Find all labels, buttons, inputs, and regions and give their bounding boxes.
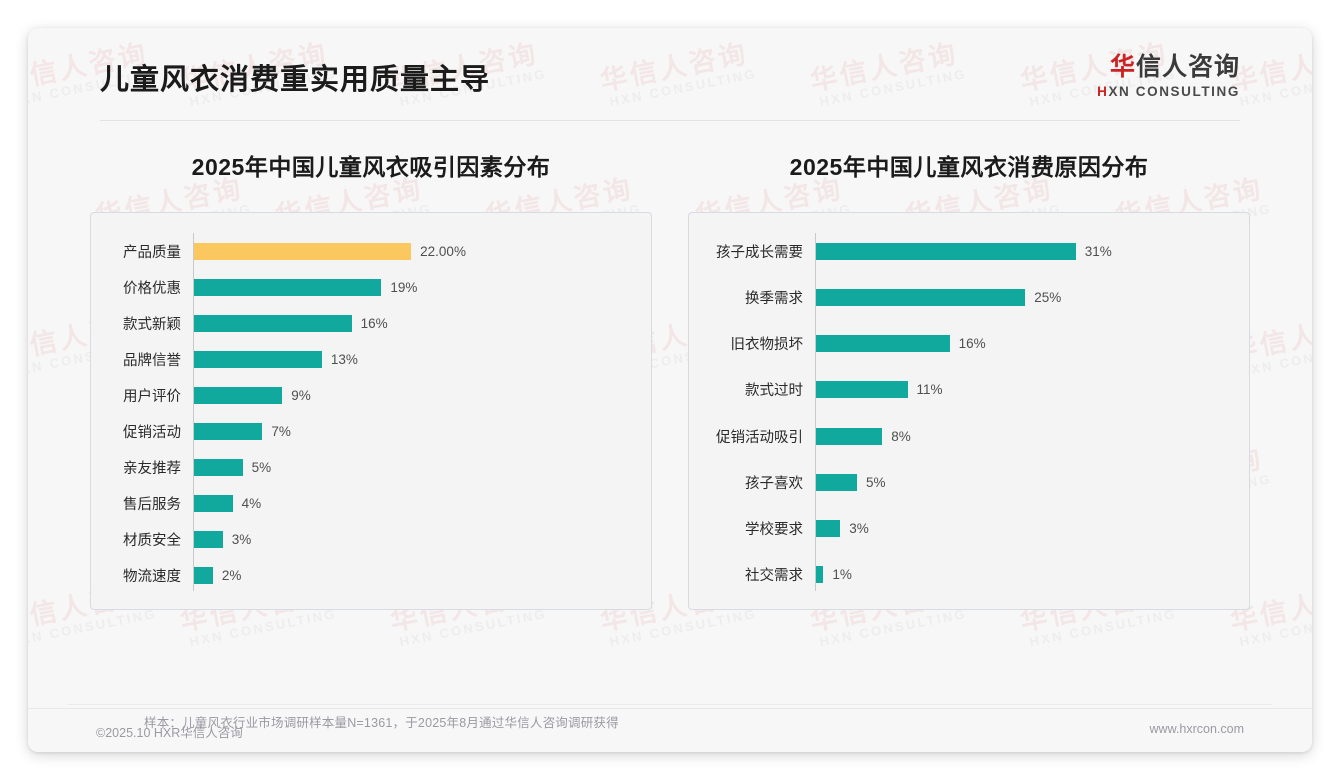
bar-row[interactable]: 品牌信誉13% — [107, 347, 635, 371]
bar[interactable] — [815, 335, 950, 352]
bar-row[interactable]: 孩子喜欢5% — [705, 470, 1233, 494]
bar-track: 13% — [193, 351, 635, 368]
bar-value-label: 19% — [381, 280, 417, 295]
bar-track: 22.00% — [193, 243, 635, 260]
watermark-english: HXN CONSULTING — [1233, 606, 1312, 650]
bar-category-label: 换季需求 — [705, 287, 815, 308]
bar-category-label: 孩子成长需要 — [705, 241, 815, 262]
bar-value-label: 8% — [882, 429, 911, 444]
bar-track: 31% — [815, 243, 1233, 260]
logo-chinese-rest: 信人咨询 — [1136, 53, 1240, 81]
bar-chart-right: 孩子成长需要31%换季需求25%旧衣物损坏16%款式过时11%促销活动吸引8%孩… — [705, 239, 1233, 587]
bar-category-label: 物流速度 — [107, 565, 193, 586]
bar-value-label: 3% — [223, 532, 252, 547]
bar-category-label: 学校要求 — [705, 518, 815, 539]
slide-header: 儿童风衣消费重实用质量主导 华信人咨询 HXN CONSULTING — [28, 28, 1312, 120]
bar[interactable] — [193, 351, 322, 368]
bar-category-label: 孩子喜欢 — [705, 472, 815, 493]
bar[interactable] — [815, 474, 857, 491]
bar[interactable] — [193, 495, 233, 512]
website-url[interactable]: www.hxrcon.com — [1150, 722, 1244, 736]
bar-row[interactable]: 用户评价9% — [107, 383, 635, 407]
bar-track: 5% — [815, 474, 1233, 491]
watermark-english: HXN CONSULTING — [28, 606, 158, 650]
bar-category-label: 款式新颖 — [107, 313, 193, 334]
bar-category-label: 促销活动 — [107, 421, 193, 442]
bar-track: 11% — [815, 381, 1233, 398]
bar-row[interactable]: 学校要求3% — [705, 517, 1233, 541]
bar-row[interactable]: 社交需求1% — [705, 563, 1233, 587]
bar-track: 7% — [193, 423, 635, 440]
bar[interactable] — [193, 459, 243, 476]
bar-value-label: 11% — [908, 382, 943, 397]
bar[interactable] — [193, 315, 352, 332]
bar-value-label: 5% — [243, 460, 272, 475]
bar[interactable] — [815, 381, 908, 398]
watermark-english: HXN CONSULTING — [393, 606, 548, 650]
bar-category-label: 售后服务 — [107, 493, 193, 514]
bar-row[interactable]: 促销活动吸引8% — [705, 424, 1233, 448]
chart-panel-left: 产品质量22.00%价格优惠19%款式新颖16%品牌信誉13%用户评价9%促销活… — [90, 212, 652, 610]
bar-value-label: 22.00% — [411, 244, 466, 259]
bar-row[interactable]: 促销活动7% — [107, 419, 635, 443]
bar-value-label: 25% — [1025, 290, 1061, 305]
copyright-text: ©2025.10 HXR华信人咨询 — [96, 722, 243, 741]
bar-value-label: 7% — [262, 424, 291, 439]
bar-category-label: 旧衣物损坏 — [705, 333, 815, 354]
bar-value-label: 16% — [950, 336, 986, 351]
bar-category-label: 品牌信誉 — [107, 349, 193, 370]
bar-track: 16% — [193, 315, 635, 332]
bar[interactable] — [193, 279, 381, 296]
chart-title-left: 2025年中国儿童风衣吸引因素分布 — [90, 148, 652, 182]
bar-value-label: 3% — [840, 521, 869, 536]
bar-category-label: 促销活动吸引 — [705, 426, 815, 447]
bar[interactable] — [193, 567, 213, 584]
bar-track: 16% — [815, 335, 1233, 352]
bar-track: 8% — [815, 428, 1233, 445]
footer-bar: ©2025.10 HXR华信人咨询 www.hxrcon.com — [28, 708, 1312, 752]
bar[interactable] — [815, 428, 882, 445]
chart-axis-line — [815, 233, 816, 591]
logo-english: HXN CONSULTING — [1097, 84, 1240, 99]
bar-category-label: 材质安全 — [107, 529, 193, 550]
bar-row[interactable]: 款式新颖16% — [107, 311, 635, 335]
bar[interactable] — [815, 243, 1076, 260]
chart-axis-line — [193, 233, 194, 591]
bar-track: 9% — [193, 387, 635, 404]
bar-track: 19% — [193, 279, 635, 296]
logo-chinese: 华信人咨询 — [1097, 53, 1240, 82]
bar-value-label: 31% — [1076, 244, 1112, 259]
bar-track: 5% — [193, 459, 635, 476]
bar-track: 3% — [193, 531, 635, 548]
bar-category-label: 社交需求 — [705, 564, 815, 585]
logo-english-rest: XN CONSULTING — [1108, 84, 1240, 99]
bar-track: 2% — [193, 567, 635, 584]
bar-track: 4% — [193, 495, 635, 512]
chart-title-right: 2025年中国儿童风衣消费原因分布 — [688, 148, 1250, 182]
bar-row[interactable]: 产品质量22.00% — [107, 239, 635, 263]
bar-row[interactable]: 孩子成长需要31% — [705, 239, 1233, 263]
logo-english-highlight: H — [1097, 84, 1108, 99]
chart-block-purchase-reasons: 2025年中国儿童风衣消费原因分布 孩子成长需要31%换季需求25%旧衣物损坏1… — [670, 148, 1312, 610]
watermark-english: HXN CONSULTING — [183, 606, 338, 650]
bar[interactable] — [815, 566, 823, 583]
bar-row[interactable]: 材质安全3% — [107, 527, 635, 551]
bar-value-label: 9% — [282, 388, 311, 403]
watermark-english: HXN CONSULTING — [603, 606, 758, 650]
bar-value-label: 1% — [823, 567, 852, 582]
bar-track: 3% — [815, 520, 1233, 537]
watermark-english: HXN CONSULTING — [1023, 606, 1178, 650]
bar-row[interactable]: 价格优惠19% — [107, 275, 635, 299]
chart-block-attraction-factors: 2025年中国儿童风衣吸引因素分布 产品质量22.00%价格优惠19%款式新颖1… — [28, 148, 670, 610]
bar[interactable] — [815, 289, 1025, 306]
bar[interactable] — [193, 387, 282, 404]
bar-value-label: 2% — [213, 568, 242, 583]
bar-category-label: 产品质量 — [107, 241, 193, 262]
bar-value-label: 5% — [857, 475, 886, 490]
bar[interactable] — [193, 531, 223, 548]
bar-value-label: 16% — [352, 316, 388, 331]
bar-category-label: 款式过时 — [705, 379, 815, 400]
bar-chart-left: 产品质量22.00%价格优惠19%款式新颖16%品牌信誉13%用户评价9%促销活… — [107, 239, 635, 587]
bar-row[interactable]: 款式过时11% — [705, 378, 1233, 402]
bar-track: 1% — [815, 566, 1233, 583]
chart-panel-right: 孩子成长需要31%换季需求25%旧衣物损坏16%款式过时11%促销活动吸引8%孩… — [688, 212, 1250, 610]
watermark-english: HXN CONSULTING — [813, 606, 968, 650]
bar-category-label: 价格优惠 — [107, 277, 193, 298]
bar-row[interactable]: 换季需求25% — [705, 285, 1233, 309]
page-title: 儿童风衣消费重实用质量主导 — [100, 56, 490, 98]
bar-row[interactable]: 旧衣物损坏16% — [705, 332, 1233, 356]
bar[interactable] — [193, 243, 411, 260]
bar[interactable] — [193, 423, 262, 440]
bar-row[interactable]: 售后服务4% — [107, 491, 635, 515]
logo-chinese-highlight: 华 — [1110, 53, 1136, 81]
bar-value-label: 4% — [233, 496, 262, 511]
bar-category-label: 亲友推荐 — [107, 457, 193, 478]
charts-container: 2025年中国儿童风衣吸引因素分布 产品质量22.00%价格优惠19%款式新颖1… — [28, 148, 1312, 610]
header-divider — [100, 120, 1240, 121]
footer-divider — [68, 704, 1272, 705]
bar-row[interactable]: 亲友推荐5% — [107, 455, 635, 479]
bar[interactable] — [815, 520, 840, 537]
bar-value-label: 13% — [322, 352, 358, 367]
bar-track: 25% — [815, 289, 1233, 306]
bar-row[interactable]: 物流速度2% — [107, 563, 635, 587]
bar-category-label: 用户评价 — [107, 385, 193, 406]
brand-logo: 华信人咨询 HXN CONSULTING — [1097, 53, 1240, 99]
slide-card: 华信人咨询HXN CONSULTING华信人咨询HXN CONSULTING华信… — [28, 28, 1312, 752]
